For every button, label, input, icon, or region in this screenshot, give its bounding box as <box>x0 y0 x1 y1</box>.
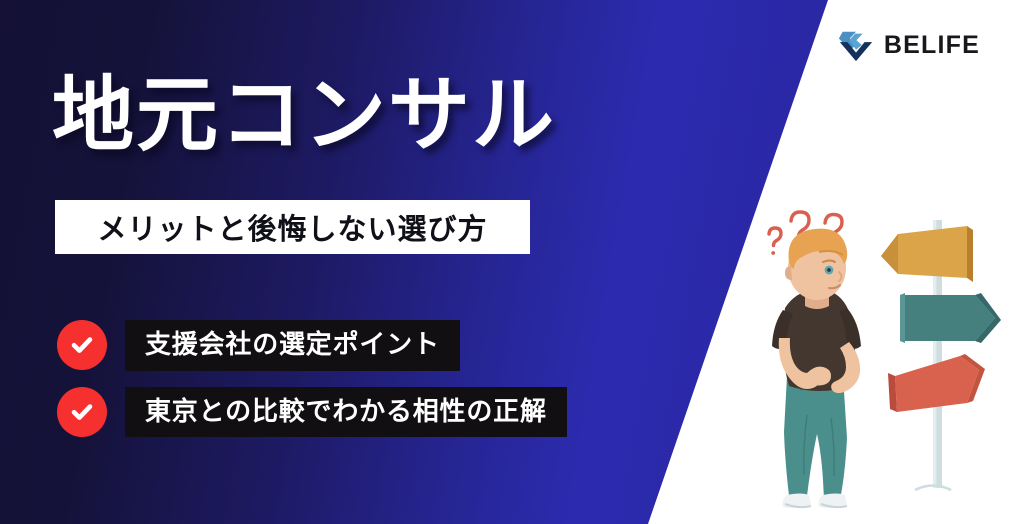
subtitle-text: メリットと後悔しない選び方 <box>97 206 487 248</box>
hero-banner: BELIFE 地元コンサル メリットと後悔しない選び方 支援会社の選定ポイント … <box>0 0 1024 524</box>
chevron-down-double-icon <box>837 26 875 64</box>
list-item-label: 東京との比較でわかる相性の正解 <box>125 387 567 438</box>
list-item: 支援会社の選定ポイント <box>57 320 567 371</box>
signpost-group <box>881 220 1001 490</box>
brand-logo-text: BELIFE <box>884 33 980 58</box>
sign-gold-left <box>881 226 973 282</box>
brand-logo[interactable]: BELIFE <box>837 26 980 64</box>
sign-teal-right <box>900 293 1001 343</box>
list-item-label: 支援会社の選定ポイント <box>125 320 460 371</box>
person-figure <box>772 229 861 508</box>
confused-person-at-signpost-illustration <box>745 190 1020 520</box>
subtitle-bar: メリットと後悔しない選び方 <box>55 200 530 254</box>
bullet-list: 支援会社の選定ポイント 東京との比較でわかる相性の正解 <box>57 320 567 453</box>
list-item: 東京との比較でわかる相性の正解 <box>57 387 567 438</box>
check-circle-icon <box>57 320 107 370</box>
page-title: 地元コンサル <box>52 72 556 161</box>
check-circle-icon <box>57 387 107 437</box>
